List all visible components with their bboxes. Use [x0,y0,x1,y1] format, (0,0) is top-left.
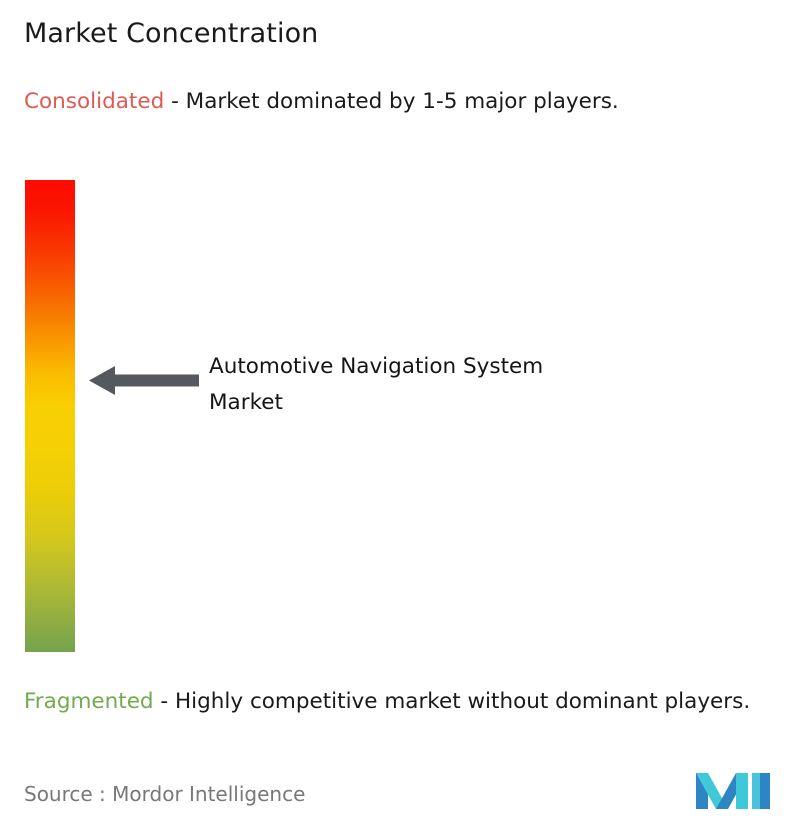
source-attribution: Source : Mordor Intelligence [24,781,305,807]
callout-label: Automotive Navigation System Market [209,349,609,421]
legend-description-consolidated: - Market dominated by 1-5 major players. [164,89,619,114]
legend-fragmented: Fragmented - Highly competitive market w… [24,686,784,717]
page-title: Market Concentration [24,17,318,51]
callout-arrow-icon [89,365,199,396]
legend-key-fragmented: Fragmented [24,689,154,714]
callout-label-text: Automotive Navigation System Market [209,354,543,415]
legend-key-consolidated: Consolidated [24,89,164,114]
legend-consolidated: Consolidated - Market dominated by 1-5 m… [24,86,784,117]
concentration-gradient-bar [25,180,75,652]
mordor-intelligence-logo-icon [694,767,772,815]
market-concentration-infographic: Market Concentration Consolidated - Mark… [0,0,796,834]
legend-description-fragmented: - Highly competitive market without domi… [154,689,751,714]
